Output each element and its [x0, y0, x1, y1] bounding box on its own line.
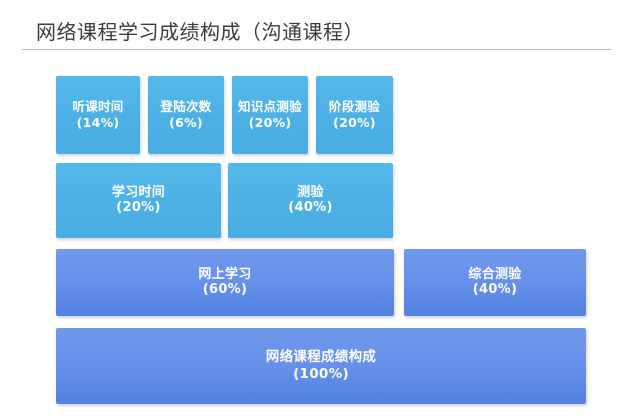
node-label: 登陆次数 [160, 100, 211, 115]
node-percent: (40%) [473, 282, 518, 298]
node-percent: (20%) [116, 200, 161, 216]
node-study-time[interactable]: 学习时间 (20%) [56, 163, 221, 238]
node-online-study[interactable]: 网上学习 (60%) [56, 249, 394, 316]
node-knowledge-point-quiz[interactable]: 知识点测验 (20%) [232, 76, 308, 154]
node-percent: (40%) [288, 200, 333, 216]
node-listening-time[interactable]: 听课时间 (14%) [56, 76, 140, 154]
node-label: 听课时间 [72, 100, 123, 115]
slide-canvas: 网络课程学习成绩构成（沟通课程） 听课时间 (14%) 登陆次数 (6%) 知识… [0, 0, 622, 417]
node-label: 网上学习 [198, 267, 251, 282]
node-login-count[interactable]: 登陆次数 (6%) [148, 76, 224, 154]
node-percent: (20%) [333, 115, 376, 130]
node-label: 网络课程成绩构成 [266, 350, 376, 366]
node-label: 综合测验 [468, 267, 521, 282]
page-title: 网络课程学习成绩构成（沟通课程） [36, 18, 364, 46]
node-comprehensive-exam[interactable]: 综合测验 (40%) [404, 249, 586, 316]
node-label: 阶段测验 [329, 100, 380, 115]
node-percent: (20%) [249, 115, 292, 130]
node-percent: (100%) [293, 366, 349, 382]
node-percent: (14%) [77, 115, 120, 130]
node-percent: (60%) [203, 282, 248, 298]
node-percent: (6%) [169, 115, 203, 130]
node-label: 测验 [297, 185, 324, 200]
node-label: 知识点测验 [238, 100, 302, 115]
title-underline-divider [22, 49, 611, 50]
node-total-course-score[interactable]: 网络课程成绩构成 (100%) [56, 328, 586, 404]
node-stage-quiz[interactable]: 阶段测验 (20%) [316, 76, 393, 154]
node-quiz[interactable]: 测验 (40%) [228, 163, 393, 238]
node-label: 学习时间 [112, 185, 165, 200]
